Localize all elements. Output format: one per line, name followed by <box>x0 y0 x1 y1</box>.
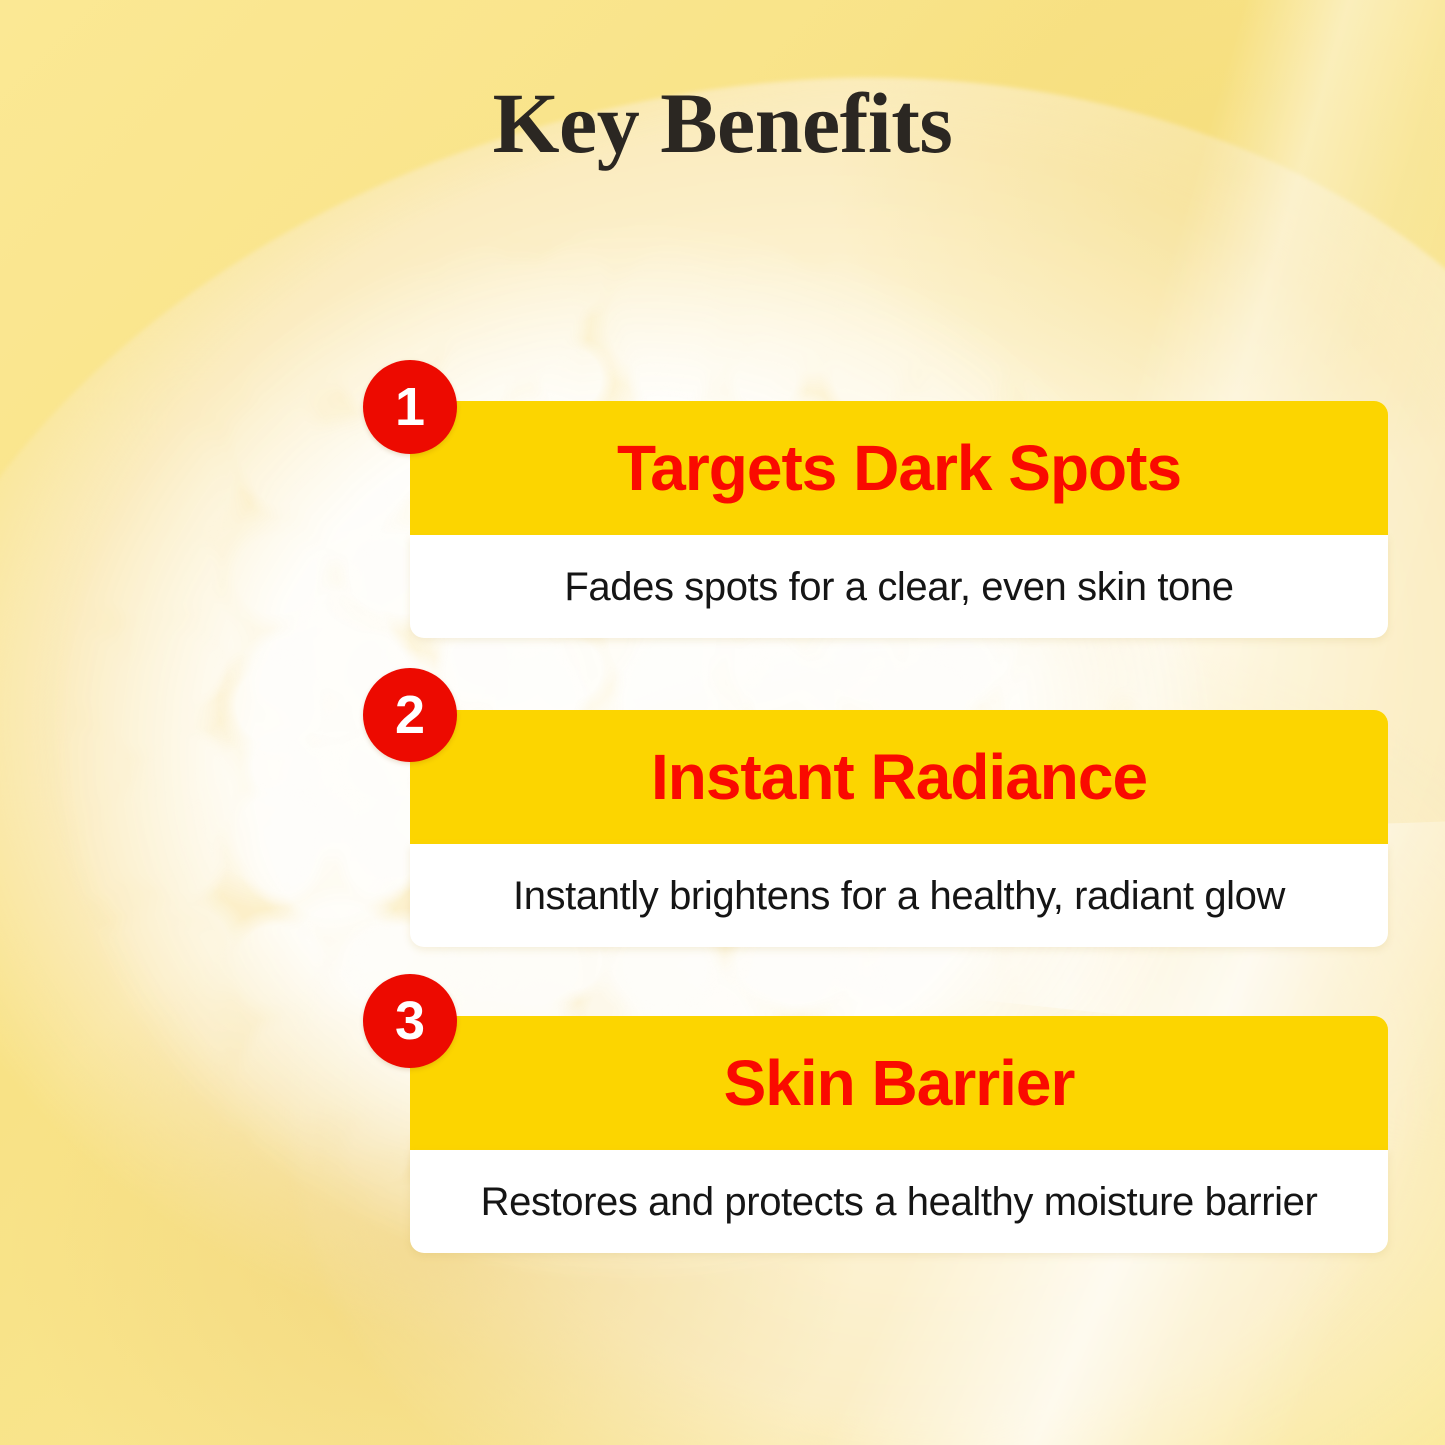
benefit-heading-1: Targets Dark Spots <box>589 436 1209 500</box>
benefit-card-2: Instant Radiance Instantly brightens for… <box>410 710 1388 947</box>
benefit-card-1: Targets Dark Spots Fades spots for a cle… <box>410 401 1388 638</box>
benefit-heading-bar-2: Instant Radiance <box>410 710 1388 844</box>
benefit-number-2: 2 <box>395 688 425 742</box>
benefit-description-bar-1: Fades spots for a clear, even skin tone <box>410 535 1388 638</box>
benefit-number-3: 3 <box>395 994 425 1048</box>
benefit-description-1: Fades spots for a clear, even skin tone <box>538 564 1259 610</box>
benefit-description-bar-2: Instantly brightens for a healthy, radia… <box>410 844 1388 947</box>
benefit-description-bar-3: Restores and protects a healthy moisture… <box>410 1150 1388 1253</box>
benefit-heading-bar-3: Skin Barrier <box>410 1016 1388 1150</box>
benefit-number-badge-3: 3 <box>363 974 457 1068</box>
benefit-heading-3: Skin Barrier <box>696 1051 1103 1115</box>
page-title: Key Benefits <box>0 78 1445 168</box>
benefit-number-badge-2: 2 <box>363 668 457 762</box>
benefit-description-3: Restores and protects a healthy moisture… <box>455 1179 1344 1225</box>
key-benefits-infographic: Key Benefits 1 Targets Dark Spots Fades … <box>0 0 1445 1445</box>
benefit-description-2: Instantly brightens for a healthy, radia… <box>487 873 1311 919</box>
benefit-card-3: Skin Barrier Restores and protects a hea… <box>410 1016 1388 1253</box>
benefits-list: 1 Targets Dark Spots Fades spots for a c… <box>0 0 1445 1445</box>
benefit-number-badge-1: 1 <box>363 360 457 454</box>
benefit-number-1: 1 <box>395 380 425 434</box>
benefit-heading-bar-1: Targets Dark Spots <box>410 401 1388 535</box>
benefit-heading-2: Instant Radiance <box>623 745 1175 809</box>
